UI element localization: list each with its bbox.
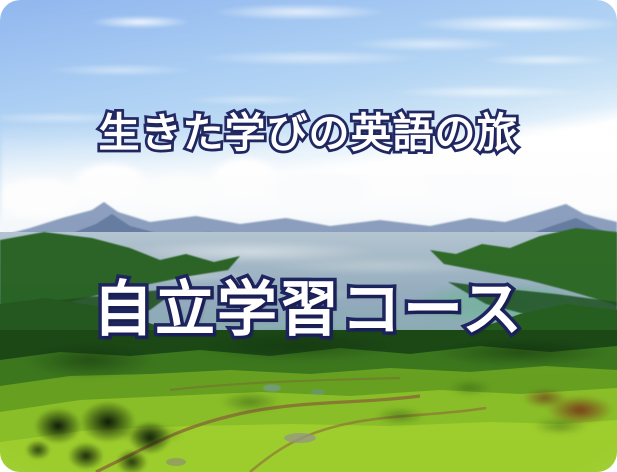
course-banner: 生きた学びの英語の旅 自立学習コース: [0, 0, 617, 472]
photo-color-grade: [0, 0, 617, 472]
background-photo: [0, 0, 617, 472]
